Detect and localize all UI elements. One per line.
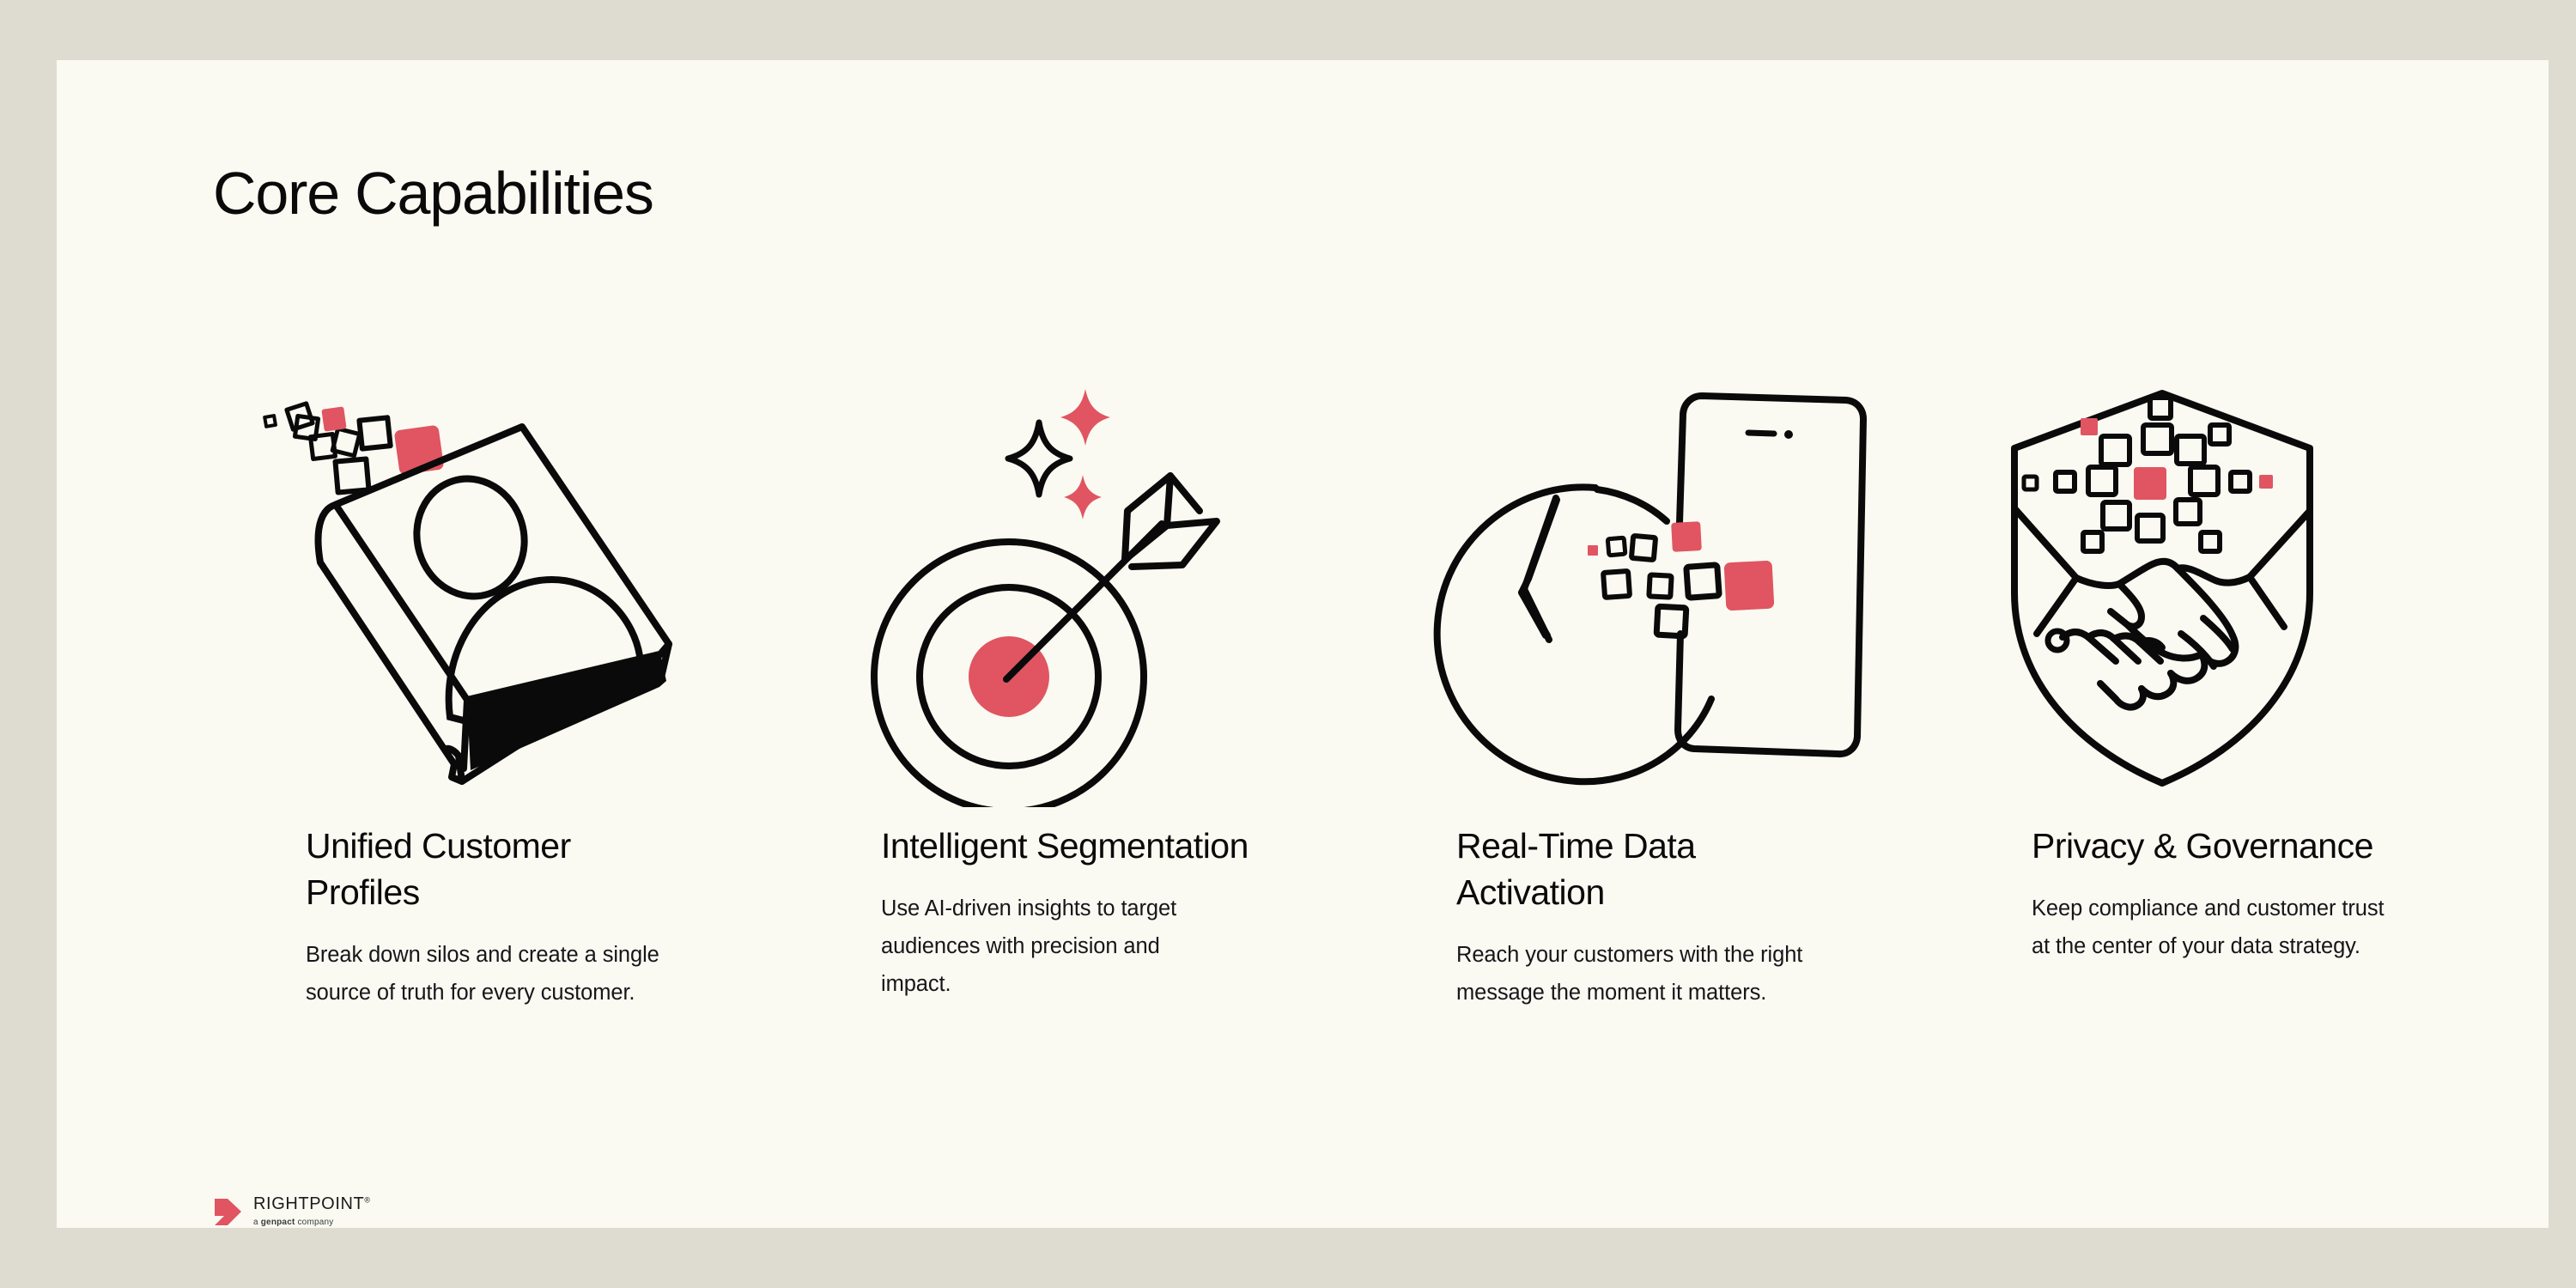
- capability-card-intelligent-segmentation: Intelligent Segmentation Use AI-driven i…: [788, 378, 1364, 1004]
- capability-title: Privacy & Governance: [2032, 823, 2401, 869]
- clock-phone-data-icon: [1406, 378, 1887, 807]
- slide-background: Core Capabilities: [0, 0, 2576, 1288]
- capability-card-real-time-data-activation: Real-Time Data Activation Reach your cus…: [1364, 378, 1939, 1012]
- shield-handshake-icon: [1982, 378, 2463, 807]
- target-arrow-sparkle-icon: [831, 378, 1312, 807]
- capability-title: Real-Time Data Activation: [1456, 823, 1826, 915]
- capability-title: Unified Customer Profiles: [306, 823, 675, 915]
- capability-description: Reach your customers with the right mess…: [1456, 937, 1810, 1012]
- logo-tagline-suffix: company: [295, 1218, 334, 1227]
- logo-text: RIGHTPOINT® a genpact company: [253, 1195, 371, 1227]
- logo-tagline-prefix: a: [253, 1218, 261, 1227]
- capability-description: Keep compliance and customer trust at th…: [2032, 890, 2385, 966]
- logo-tagline-brand: genpact: [261, 1218, 295, 1227]
- capability-description: Break down silos and create a single sou…: [306, 937, 659, 1012]
- logo-trademark: ®: [364, 1195, 370, 1204]
- capabilities-row: Unified Customer Profiles Break down sil…: [213, 378, 2514, 1012]
- capability-description: Use AI-driven insights to target audienc…: [881, 890, 1235, 1004]
- capability-card-privacy-governance: Privacy & Governance Keep compliance and…: [1939, 378, 2514, 966]
- slide-card: Core Capabilities: [57, 60, 2549, 1228]
- rightpoint-logo: RIGHTPOINT® a genpact company: [213, 1195, 371, 1231]
- logo-wordmark: RIGHTPOINT®: [253, 1195, 371, 1212]
- capability-title: Intelligent Segmentation: [881, 823, 1250, 869]
- logo-wordmark-text: RIGHTPOINT: [253, 1194, 364, 1213]
- capability-card-unified-customer-profiles: Unified Customer Profiles Break down sil…: [213, 378, 788, 1012]
- book-user-profile-icon: [256, 378, 737, 807]
- logo-tagline: a genpact company: [253, 1218, 371, 1227]
- page-title: Core Capabilities: [213, 163, 653, 223]
- rightpoint-arrow-icon: [213, 1198, 246, 1231]
